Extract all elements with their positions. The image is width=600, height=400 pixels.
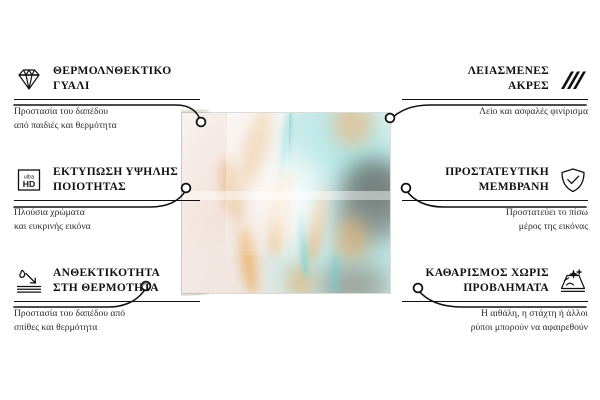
feature-header: ΘΕΡΜΟΛΝΘΕΚΤΙΚΟ ΓΥΑΛΙ	[14, 62, 200, 96]
feature-title-line2: ΓΥΑΛΙ	[53, 79, 171, 94]
feature-title-line2: ΜΕΜΒΡΑΝΗ	[445, 180, 549, 195]
feature-title-line1: ΕΚΤΥΠΩΣΗ ΥΨΗΛΗΣ	[53, 165, 178, 180]
feature-header: ΠΡΟΣΤΑΤΕΥΤΙΚΗ ΜΕΜΒΡΑΝΗ	[402, 163, 588, 197]
feature-divider	[402, 301, 588, 302]
flame-resistance-icon	[14, 267, 44, 295]
feature-header: ΑΝΘΕΚΤΙΚΟΤΗΤΑ ΣΤΗ ΘΕΡΜΟΤΗΤΑ	[14, 264, 200, 298]
easy-clean-sparkle-icon	[558, 267, 588, 295]
feature-heat-resistant-glass: ΘΕΡΜΟΛΝΘΕΚΤΙΚΟ ΓΥΑΛΙ Προστασία του δαπέδ…	[14, 62, 200, 132]
feature-title-line1: ΑΝΘΕΚΤΙΚΟΤΗΤΑ	[53, 266, 160, 281]
feature-header: ultra HD ΕΚΤΥΠΩΣΗ ΥΨΗΛΗΣ ΠΟΙΟΤΗΤΑΣ	[14, 163, 200, 197]
feature-desc-line1: Η αιθάλη, η στάχτη ή άλλοι	[402, 307, 588, 321]
feature-desc-line1: Προστατεύει το πίσω	[402, 206, 588, 220]
feature-desc-line1: Λείο και ασφαλές φινίρισμα	[402, 105, 588, 119]
feature-title-line2: ΠΟΙΟΤΗΤΑΣ	[53, 180, 178, 195]
feature-protective-membrane: ΠΡΟΣΤΑΤΕΥΤΙΚΗ ΜΕΜΒΡΑΝΗ Προστατεύει το πί…	[402, 163, 588, 233]
feature-description: Λείο και ασφαλές φινίρισμα	[402, 105, 588, 119]
feature-description: Η αιθάλη, η στάχτη ή άλλοι ρύποι μπορούν…	[402, 307, 588, 334]
feature-title-line2: ΑΚΡΕΣ	[468, 79, 549, 94]
feature-divider	[402, 200, 588, 201]
feature-title: ΛΕΙΑΣΜΕΝΕΣ ΑΚΡΕΣ	[468, 64, 549, 93]
feature-desc-line2: και ευκρινής εικόνα	[14, 220, 200, 234]
feature-divider	[14, 200, 200, 201]
polished-edges-icon	[558, 65, 588, 93]
feature-high-quality-print: ultra HD ΕΚΤΥΠΩΣΗ ΥΨΗΛΗΣ ΠΟΙΟΤΗΤΑΣ Πλούσ…	[14, 163, 200, 233]
feature-desc-line2: ρύποι μπορούν να αφαιρεθούν	[402, 321, 588, 335]
feature-description: Προστασία του δαπέδου από παιδιές και θε…	[14, 105, 200, 132]
feature-divider	[14, 99, 200, 100]
feature-title-line1: ΚΑΘΑΡΙΣΜΟΣ ΧΩΡΙΣ	[425, 266, 549, 281]
feature-header: ΛΕΙΑΣΜΕΝΕΣ ΑΚΡΕΣ	[402, 62, 588, 96]
feature-header: ΚΑΘΑΡΙΣΜΟΣ ΧΩΡΙΣ ΠΡΟΒΛΗΜΑΤΑ	[402, 264, 588, 298]
feature-desc-line2: σπίθες και θερμότητα	[14, 321, 200, 335]
feature-divider	[14, 301, 200, 302]
shield-check-icon	[558, 166, 588, 194]
feature-desc-line2: μέρος της εικόνας	[402, 220, 588, 234]
connector-dot-edges	[386, 114, 395, 123]
feature-title: ΚΑΘΑΡΙΣΜΟΣ ΧΩΡΙΣ ΠΡΟΒΛΗΜΑΤΑ	[425, 266, 549, 295]
feature-polished-edges: ΛΕΙΑΣΜΕΝΕΣ ΑΚΡΕΣ Λείο και ασφαλές φινίρι…	[402, 62, 588, 119]
feature-title-line1: ΛΕΙΑΣΜΕΝΕΣ	[468, 64, 549, 79]
feature-easy-cleaning: ΚΑΘΑΡΙΣΜΟΣ ΧΩΡΙΣ ΠΡΟΒΛΗΜΑΤΑ Η αιθάλη, η …	[402, 264, 588, 334]
feature-title-line2: ΠΡΟΒΛΗΜΑΤΑ	[425, 281, 549, 296]
feature-desc-line1: Πλούσια χρώματα	[14, 206, 200, 220]
feature-title-line1: ΘΕΡΜΟΛΝΘΕΚΤΙΚΟ	[53, 64, 171, 79]
diamond-icon	[14, 65, 44, 93]
feature-title: ΕΚΤΥΠΩΣΗ ΥΨΗΛΗΣ ΠΟΙΟΤΗΤΑΣ	[53, 165, 178, 194]
infographic-canvas: ΘΕΡΜΟΛΝΘΕΚΤΙΚΟ ΓΥΑΛΙ Προστασία του δαπέδ…	[0, 0, 600, 400]
feature-title: ΑΝΘΕΚΤΙΚΟΤΗΤΑ ΣΤΗ ΘΕΡΜΟΤΗΤΑ	[53, 266, 160, 295]
feature-desc-line1: Προστασία του δαπέδου από	[14, 307, 200, 321]
feature-description: Πλούσια χρώματα και ευκρινής εικόνα	[14, 206, 200, 233]
feature-title: ΠΡΟΣΤΑΤΕΥΤΙΚΗ ΜΕΜΒΡΑΝΗ	[445, 165, 549, 194]
feature-description: Προστασία του δαπέδου από σπίθες και θερ…	[14, 307, 200, 334]
feature-desc-line1: Προστασία του δαπέδου	[14, 105, 200, 119]
feature-desc-line2: από παιδιές και θερμότητα	[14, 119, 200, 133]
ultra-hd-icon: ultra HD	[14, 166, 44, 194]
feature-title-line2: ΣΤΗ ΘΕΡΜΟΤΗΤΑ	[53, 281, 160, 296]
feature-title: ΘΕΡΜΟΛΝΘΕΚΤΙΚΟ ΓΥΑΛΙ	[53, 64, 171, 93]
feature-description: Προστατεύει το πίσω μέρος της εικόνας	[402, 206, 588, 233]
feature-heat-durability: ΑΝΘΕΚΤΙΚΟΤΗΤΑ ΣΤΗ ΘΕΡΜΟΤΗΤΑ Προστασία το…	[14, 264, 200, 334]
ultra-hd-icon-bottom-label: HD	[23, 179, 35, 189]
feature-title-line1: ΠΡΟΣΤΑΤΕΥΤΙΚΗ	[445, 165, 549, 180]
feature-divider	[402, 99, 588, 100]
